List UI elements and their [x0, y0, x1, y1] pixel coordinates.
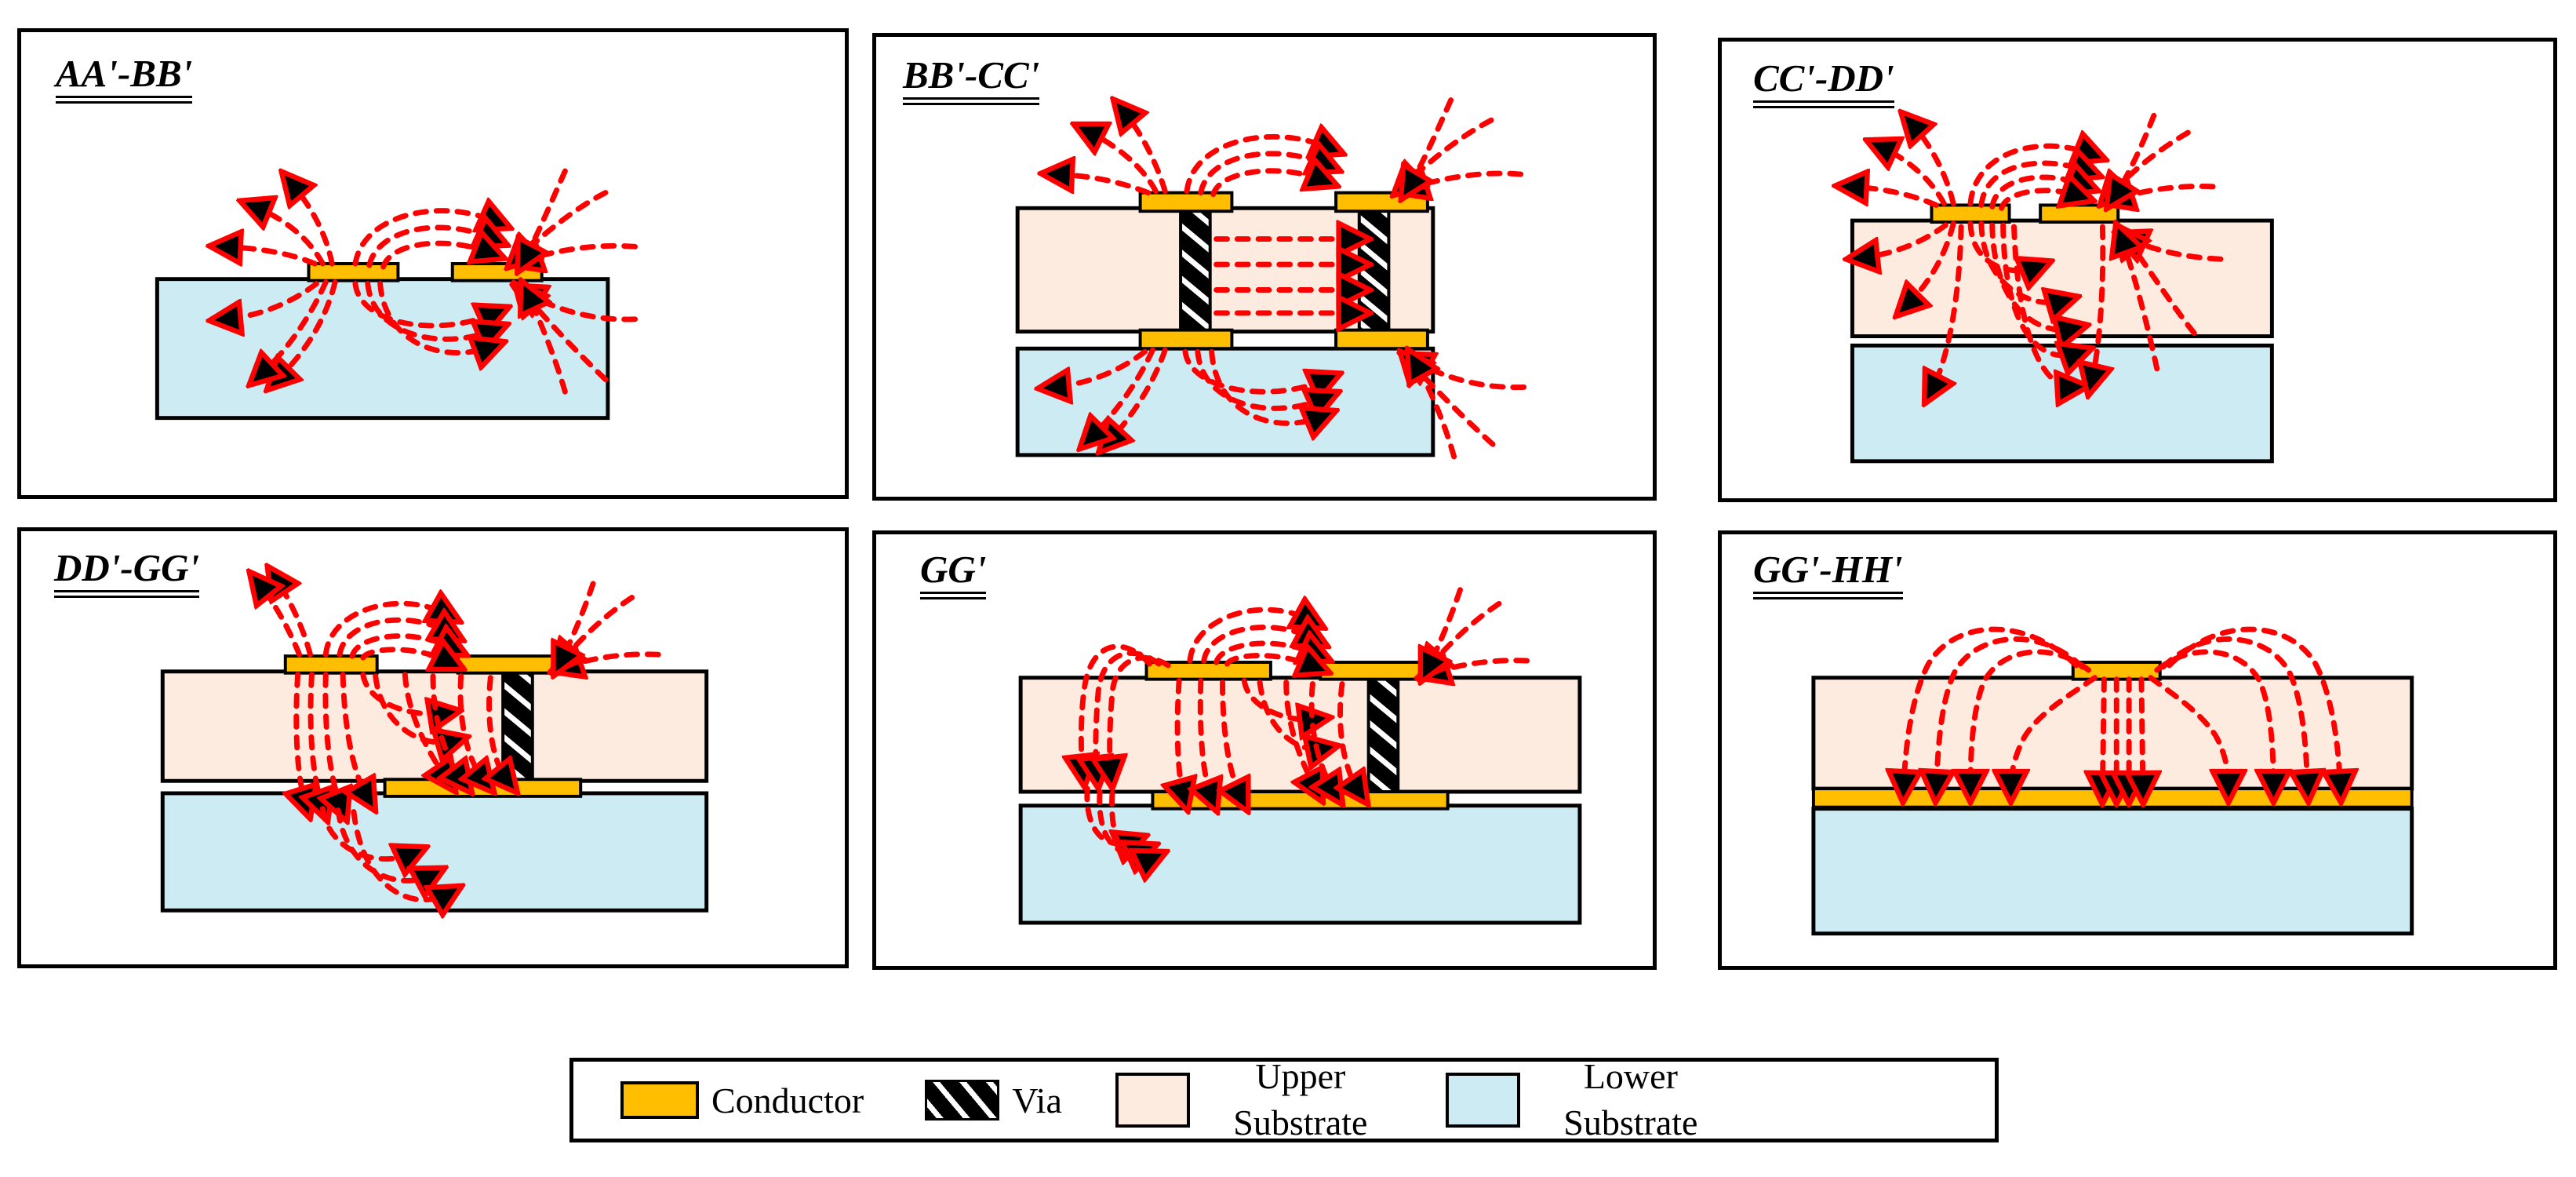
- field-line: [1429, 603, 1499, 667]
- lower-substrate-block: [157, 279, 608, 418]
- panel-gg: GG': [872, 530, 1657, 970]
- field-line: [1410, 173, 1521, 188]
- conductor-top-left: [1931, 205, 2009, 222]
- field-line: [2116, 186, 2213, 199]
- field-line: [355, 211, 497, 264]
- via-right: [503, 672, 533, 782]
- conductor-top-left: [1141, 193, 1232, 212]
- cross-section-gg: [876, 534, 1653, 966]
- cross-section-cc-dd: [1722, 42, 2553, 498]
- conductor-swatch: [620, 1081, 699, 1119]
- via-swatch: [925, 1080, 999, 1121]
- legend-item-upper-substrate: Upper Substrate: [1115, 1054, 1399, 1146]
- panel-aa-bb: AA'-BB': [17, 28, 849, 499]
- cross-section-bb-cc: [876, 37, 1653, 497]
- lower-substrate-block: [1814, 809, 2412, 934]
- conductor-ground-plane: [1814, 789, 2412, 807]
- field-line: [292, 184, 333, 264]
- legend-label-via: Via: [1012, 1080, 1062, 1121]
- panel-bb-cc: BB'-CC': [872, 33, 1657, 501]
- legend-label-conductor: Conductor: [711, 1080, 864, 1121]
- cross-section-gg-hh: [1722, 534, 2553, 966]
- field-line: [1057, 174, 1148, 193]
- panel-cc-dd: CC'-DD': [1718, 38, 2557, 502]
- field-line: [1970, 146, 2092, 203]
- panel-gg-hh: GG'-HH': [1718, 530, 2557, 970]
- field-line: [1912, 123, 1953, 203]
- field-line: [1428, 590, 1461, 669]
- lower-substrate-swatch: [1446, 1073, 1520, 1128]
- field-line: [225, 246, 315, 264]
- via-right: [1369, 678, 1399, 793]
- field-line: [560, 584, 593, 662]
- upper-substrate-block: [1021, 678, 1580, 792]
- field-line: [1409, 100, 1450, 187]
- field-line: [259, 584, 300, 654]
- lower-substrate-block: [1017, 348, 1433, 455]
- conductor-bottom-right: [1336, 330, 1428, 349]
- conductor-top-right: [2040, 205, 2118, 222]
- conductor-top-right: [1336, 193, 1428, 212]
- via-left: [1181, 208, 1210, 333]
- upper-substrate-block: [1852, 220, 2272, 336]
- field-line: [1123, 111, 1165, 191]
- legend-item-via: Via: [925, 1080, 1062, 1121]
- field-line: [525, 171, 566, 259]
- field-line: [1213, 171, 1324, 195]
- lower-substrate-block: [162, 793, 706, 910]
- via-right: [1359, 208, 1389, 333]
- field-line: [1850, 187, 1936, 206]
- legend-box: Conductor Via Upper Substrate Lower Subs…: [569, 1058, 1999, 1142]
- conductor-top-right: [453, 264, 542, 281]
- legend-label-lower-substrate: Lower Substrate: [1533, 1054, 1729, 1146]
- conductor-middle-strip: [1152, 792, 1447, 809]
- panel-dd-gg: DD'-GG': [17, 527, 849, 968]
- field-line: [2110, 133, 2188, 195]
- cross-section-dd-gg: [21, 531, 845, 964]
- lower-substrate-block: [1852, 345, 2272, 461]
- legend-item-conductor: Conductor: [620, 1080, 864, 1121]
- conductor-bottom-left: [1141, 330, 1232, 349]
- cross-section-aa-bb: [21, 32, 845, 495]
- field-line: [525, 246, 635, 261]
- upper-substrate-swatch: [1115, 1073, 1190, 1128]
- legend-item-lower-substrate: Lower Substrate: [1446, 1054, 1729, 1146]
- field-line: [562, 597, 631, 661]
- legend-label-upper-substrate: Upper Substrate: [1202, 1054, 1399, 1146]
- field-line: [1187, 137, 1330, 191]
